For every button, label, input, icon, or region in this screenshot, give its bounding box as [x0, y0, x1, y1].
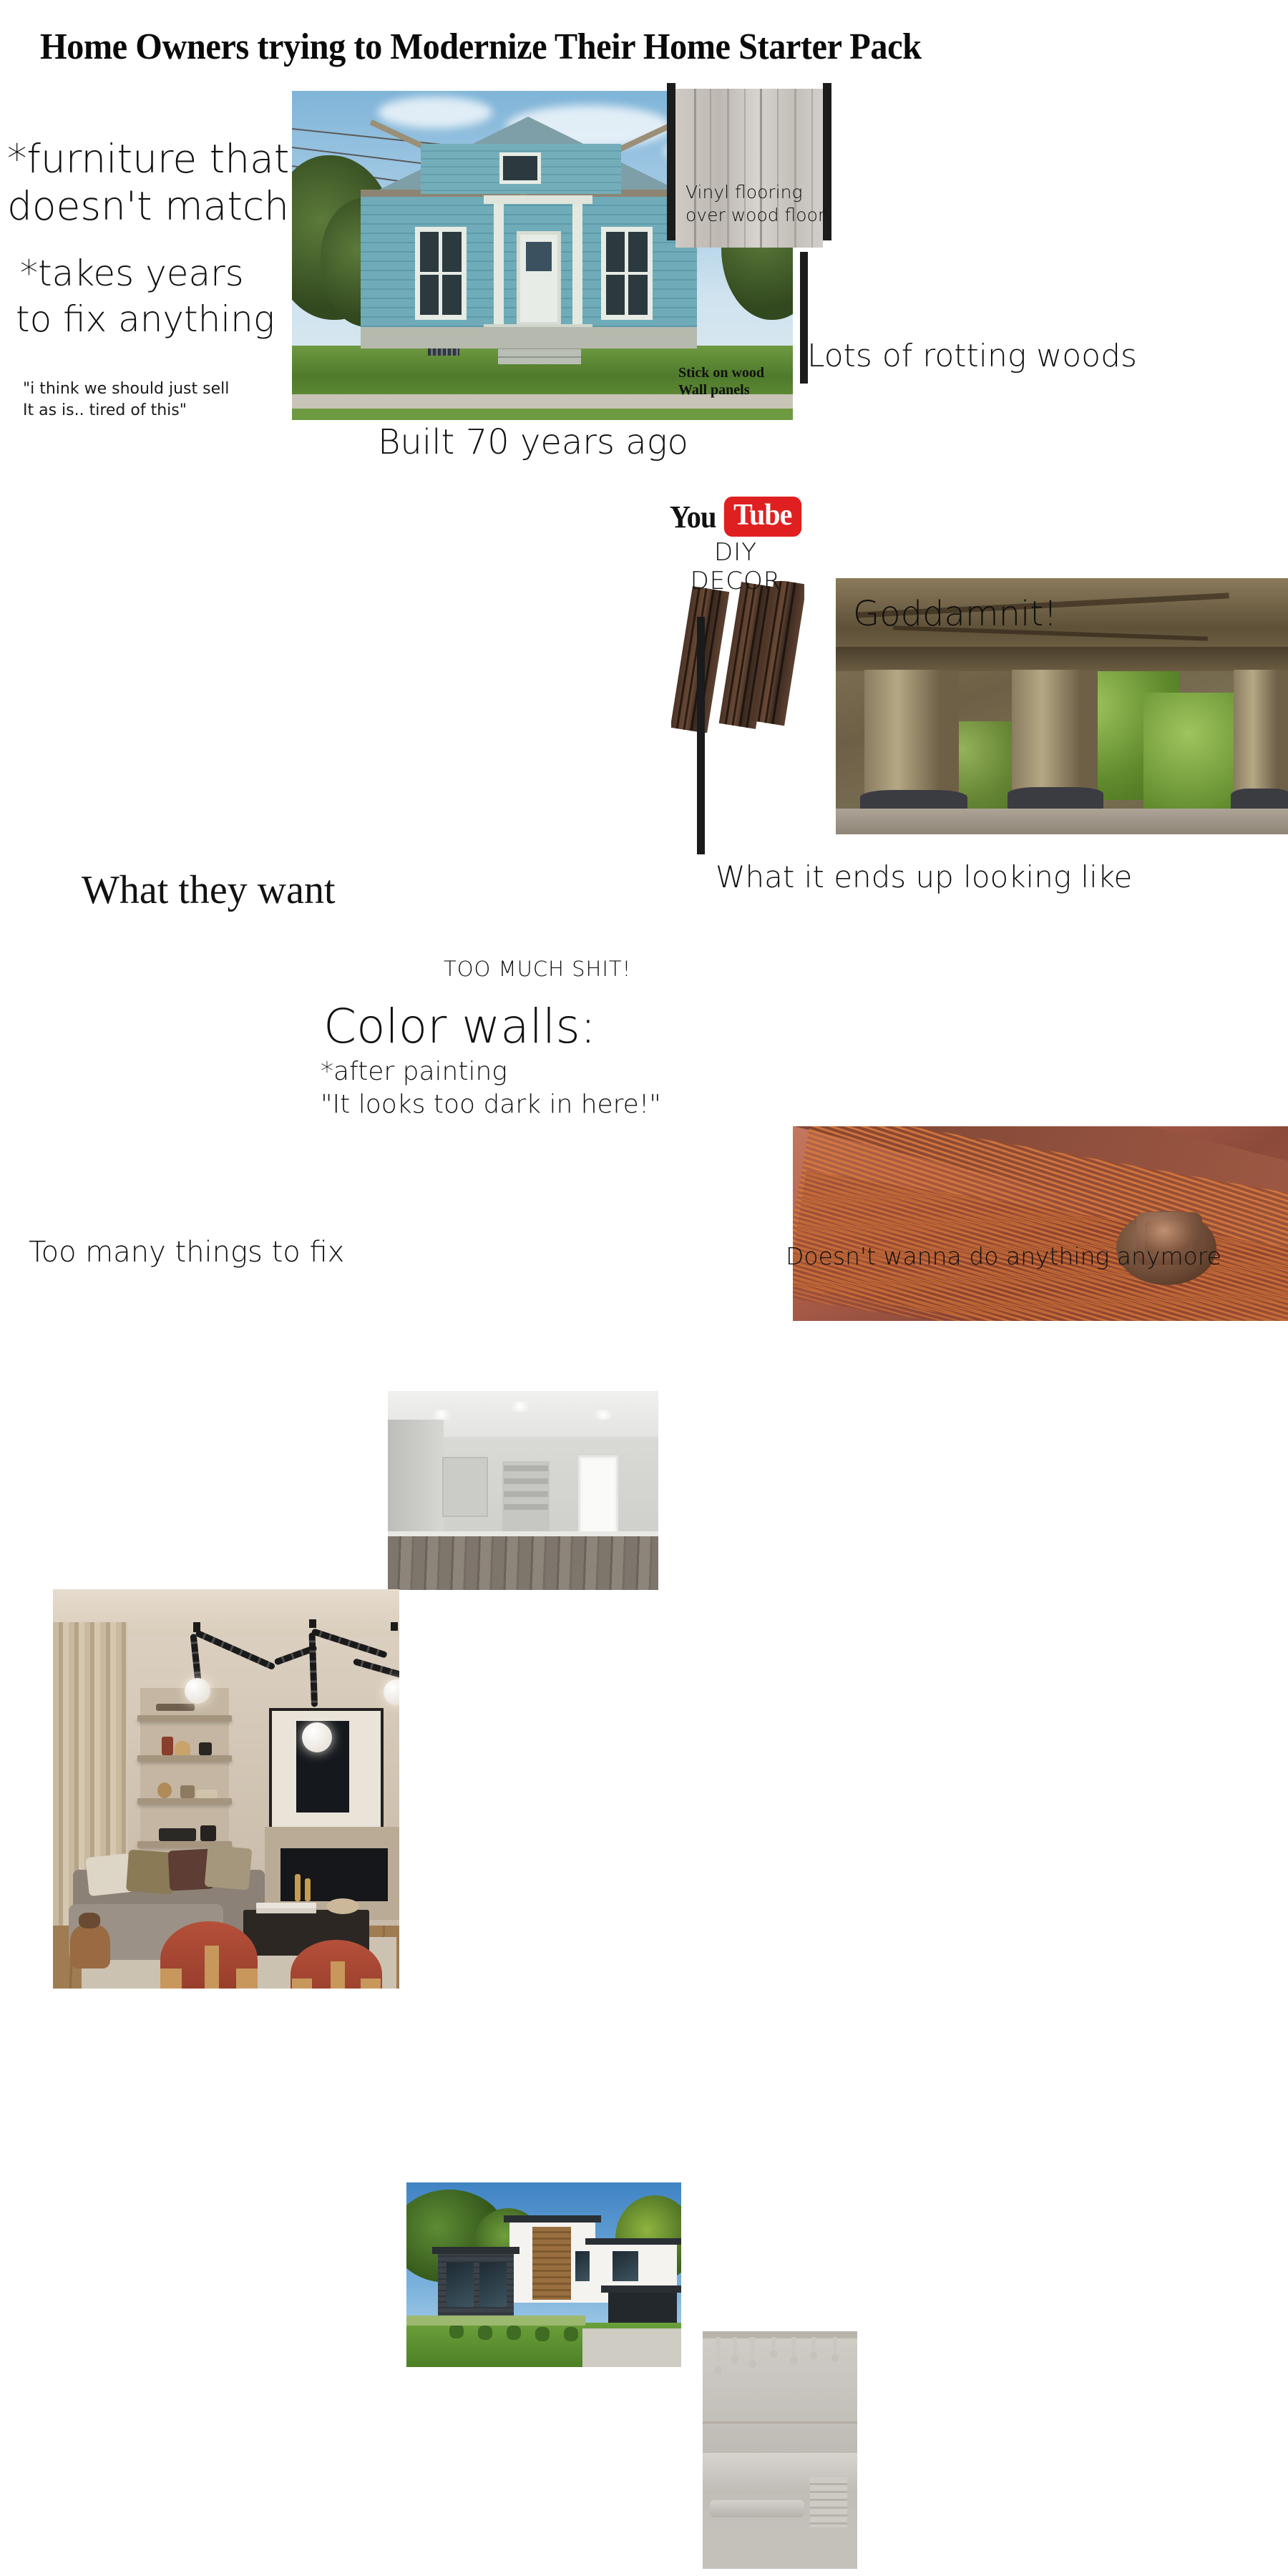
note-years-line2: to fix anything	[16, 299, 323, 339]
caption-after-painting: *after painting	[321, 1058, 507, 1086]
living-room-inspiration-photo	[53, 1589, 399, 1989]
meme-collage: Home Owners trying to Modernize Their Ho…	[0, 0, 1288, 1288]
caption-goddamnit: Goddamnit!	[853, 595, 1058, 634]
caption-built: Built 70 years ago	[378, 424, 688, 462]
note-furniture-line1: *furniture that	[7, 137, 308, 182]
youtube-tube-text: Tube	[724, 497, 801, 537]
vinyl-label-line2: over wood floor	[686, 205, 825, 225]
note-furniture-line2: doesn't match	[7, 185, 308, 229]
rust-bolt-photo	[793, 1126, 1288, 1321]
caption-too-dark: "It looks too dark in here!"	[321, 1091, 661, 1119]
caption-color-walls: Color walls:	[323, 1000, 596, 1053]
caption-rotting: Lots of rotting woods	[807, 338, 1137, 374]
caption-too-much: TOO MUCH SHIT!	[444, 957, 631, 980]
caption-too-many-things: Too many things to fix	[29, 1236, 344, 1269]
stick-on-wall-panels	[671, 581, 804, 733]
homeowner-quote-line2: It as is.. tired of this"	[23, 401, 309, 421]
vinyl-label-line1: Vinyl flooring	[686, 182, 802, 203]
youtube-you-text: You	[670, 499, 716, 535]
panels-label-line1: Stick on wood	[678, 365, 764, 381]
caption-doesnt-wanna: Doesn't wanna do anything anymore	[786, 1244, 1221, 1270]
youtube-subtitle: DIY DECOR	[677, 538, 794, 595]
panels-label-line2: Wall panels	[678, 382, 749, 398]
page-title: Home Owners trying to Modernize Their Ho…	[40, 26, 922, 68]
youtube-diy-decor-badge[interactable]: You Tube DIY DECOR	[677, 497, 794, 595]
caption-what-they-want: What they want	[82, 867, 336, 913]
modern-house-photo	[406, 2182, 681, 2367]
youtube-logo: You Tube	[677, 497, 794, 537]
homeowner-quote-line1: "i think we should just sell	[23, 379, 309, 400]
empty-room-photo	[388, 1391, 658, 1590]
painted-siding-drips-photo	[703, 2331, 857, 2569]
note-years-line1: *takes years	[20, 253, 321, 293]
caption-ends-up-looking-like: What it ends up looking like	[716, 860, 1132, 894]
